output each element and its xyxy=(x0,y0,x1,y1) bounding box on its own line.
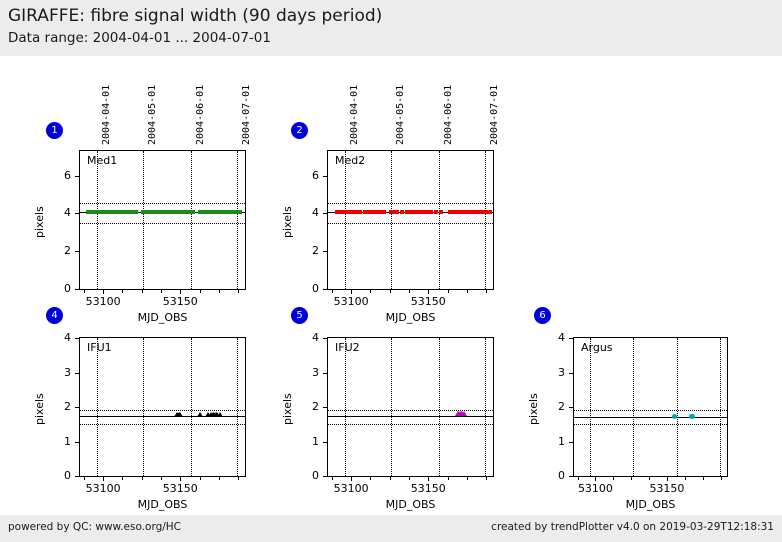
data-point xyxy=(197,412,203,417)
data-point xyxy=(217,412,223,417)
data-point xyxy=(672,414,677,419)
data-point xyxy=(358,210,362,214)
date-gridline-2 xyxy=(191,338,192,476)
y-tick-label: 3 xyxy=(543,366,565,379)
y-tick-label: 6 xyxy=(49,169,71,182)
x-axis-label: MJD_OBS xyxy=(327,311,494,324)
x-tick-label: 53100 xyxy=(571,482,619,495)
series-label: Argus xyxy=(581,341,613,354)
panel-badge-1[interactable]: 1 xyxy=(46,122,63,139)
y-tickmark xyxy=(323,407,327,408)
threshold-line-0 xyxy=(328,223,493,224)
y-tick-label: 2 xyxy=(49,244,71,257)
date-gridline-0 xyxy=(590,338,591,476)
x-minor-tickmark xyxy=(200,290,201,293)
date-label-1: 2004-05-01 xyxy=(395,85,406,145)
x-minor-tickmark xyxy=(486,290,487,293)
y-tick-label: 6 xyxy=(297,169,319,182)
data-point xyxy=(429,210,433,214)
date-label-1: 2004-05-01 xyxy=(147,85,158,145)
x-minor-tickmark xyxy=(84,477,85,480)
date-label-3: 2004-07-01 xyxy=(489,85,500,145)
x-axis-label: MJD_OBS xyxy=(79,311,246,324)
page-title: GIRAFFE: fibre signal width (90 days per… xyxy=(8,4,782,28)
date-label-2: 2004-06-01 xyxy=(443,85,454,145)
date-gridline-3 xyxy=(237,338,238,476)
y-tickmark xyxy=(323,476,327,477)
y-axis-label: pixels xyxy=(281,393,294,425)
x-minor-tickmark xyxy=(122,290,123,293)
y-axis-label: pixels xyxy=(33,393,46,425)
data-point xyxy=(434,210,438,214)
y-tickmark xyxy=(569,373,573,374)
date-gridline-0 xyxy=(97,151,98,289)
x-tick-label: 53100 xyxy=(327,295,375,308)
y-tick-label: 2 xyxy=(49,400,71,413)
x-minor-tickmark xyxy=(448,477,449,480)
threshold-line-1 xyxy=(328,203,493,204)
footer-created-by: created by trendPlotter v4.0 on 2019-03-… xyxy=(491,521,774,533)
y-tickmark xyxy=(75,251,79,252)
series-label: IFU1 xyxy=(87,341,112,354)
date-label-3: 2004-07-01 xyxy=(241,85,252,145)
y-tickmark xyxy=(323,338,327,339)
x-minor-tickmark xyxy=(467,290,468,293)
x-minor-tickmark xyxy=(667,477,668,480)
mean-line xyxy=(574,417,727,418)
date-label-2: 2004-06-01 xyxy=(195,85,206,145)
y-tick-label: 4 xyxy=(543,331,565,344)
x-minor-tickmark xyxy=(180,290,181,293)
panel-badge-6[interactable]: 6 xyxy=(534,307,551,324)
x-minor-tickmark xyxy=(613,477,614,480)
data-point xyxy=(382,210,386,214)
data-point xyxy=(395,210,399,214)
x-minor-tickmark xyxy=(595,477,596,480)
date-gridline-0 xyxy=(97,338,98,476)
y-tickmark xyxy=(569,338,573,339)
y-tick-label: 0 xyxy=(49,469,71,482)
data-point xyxy=(488,210,492,214)
y-tick-label: 0 xyxy=(297,282,319,295)
y-tick-label: 2 xyxy=(297,244,319,257)
data-point xyxy=(177,412,183,417)
x-tick-label: 53150 xyxy=(404,482,452,495)
y-tick-label: 1 xyxy=(543,435,565,448)
y-tickmark xyxy=(323,251,327,252)
y-tickmark xyxy=(569,476,573,477)
threshold-line-0 xyxy=(80,424,245,425)
y-tick-label: 1 xyxy=(297,435,319,448)
x-minor-tickmark xyxy=(486,477,487,480)
header-banner: GIRAFFE: fibre signal width (90 days per… xyxy=(0,0,782,56)
x-minor-tickmark xyxy=(685,477,686,480)
panel-badge-4[interactable]: 4 xyxy=(46,307,63,324)
x-minor-tickmark xyxy=(219,477,220,480)
y-tickmark xyxy=(75,213,79,214)
date-gridline-1 xyxy=(143,338,144,476)
x-minor-tickmark xyxy=(332,290,333,293)
y-axis-label: pixels xyxy=(527,393,540,425)
x-tick-label: 53150 xyxy=(156,482,204,495)
date-gridline-0 xyxy=(345,151,346,289)
panel-badge-5[interactable]: 5 xyxy=(291,307,308,324)
y-tickmark xyxy=(323,373,327,374)
threshold-line-0 xyxy=(80,223,245,224)
date-gridline-3 xyxy=(485,151,486,289)
plot-box-ifu2[interactable] xyxy=(327,337,494,477)
date-gridline-1 xyxy=(391,151,392,289)
x-minor-tickmark xyxy=(703,477,704,480)
x-minor-tickmark xyxy=(161,290,162,293)
y-tick-label: 4 xyxy=(297,206,319,219)
y-tickmark xyxy=(75,476,79,477)
data-point xyxy=(89,210,93,214)
x-tick-label: 53100 xyxy=(79,482,127,495)
footer-banner: powered by QC: www.eso.org/HC created by… xyxy=(0,515,782,542)
x-minor-tickmark xyxy=(409,477,410,480)
y-tickmark xyxy=(75,289,79,290)
x-minor-tickmark xyxy=(631,477,632,480)
y-axis-label: pixels xyxy=(33,206,46,238)
threshold-line-1 xyxy=(80,203,245,204)
plot-box-med2[interactable] xyxy=(327,150,494,290)
x-minor-tickmark xyxy=(448,290,449,293)
y-tick-label: 0 xyxy=(543,469,565,482)
x-minor-tickmark xyxy=(142,477,143,480)
y-tickmark xyxy=(75,442,79,443)
x-minor-tickmark xyxy=(428,290,429,293)
x-tick-label: 53150 xyxy=(404,295,452,308)
date-gridline-2 xyxy=(191,151,192,289)
x-minor-tickmark xyxy=(351,477,352,480)
x-minor-tickmark xyxy=(122,477,123,480)
x-minor-tickmark xyxy=(161,477,162,480)
x-minor-tickmark xyxy=(649,477,650,480)
date-label-0: 2004-04-01 xyxy=(101,85,112,145)
y-tick-label: 4 xyxy=(297,331,319,344)
date-gridline-0 xyxy=(345,338,346,476)
plot-box-med1[interactable] xyxy=(79,150,246,290)
y-tick-label: 1 xyxy=(49,435,71,448)
date-gridline-2 xyxy=(439,338,440,476)
y-tickmark xyxy=(75,373,79,374)
y-tick-label: 4 xyxy=(49,331,71,344)
x-minor-tickmark xyxy=(351,290,352,293)
x-minor-tickmark xyxy=(467,477,468,480)
x-tick-label: 53100 xyxy=(79,295,127,308)
data-point xyxy=(348,210,352,214)
series-label: Med1 xyxy=(87,154,117,167)
y-tickmark xyxy=(323,442,327,443)
data-point xyxy=(238,210,242,214)
y-tickmark xyxy=(569,407,573,408)
x-axis-label: MJD_OBS xyxy=(327,498,494,511)
x-tick-label: 53150 xyxy=(156,295,204,308)
y-tickmark xyxy=(75,176,79,177)
y-tickmark xyxy=(75,338,79,339)
y-tick-label: 0 xyxy=(297,469,319,482)
panel-badge-2[interactable]: 2 xyxy=(291,122,308,139)
y-tickmark xyxy=(75,407,79,408)
date-gridline-3 xyxy=(237,151,238,289)
date-gridline-1 xyxy=(633,338,634,476)
data-point xyxy=(134,210,138,214)
plot-box-ifu1[interactable] xyxy=(79,337,246,477)
x-minor-tickmark xyxy=(142,290,143,293)
date-gridline-3 xyxy=(485,338,486,476)
data-point xyxy=(191,210,195,214)
x-minor-tickmark xyxy=(390,290,391,293)
date-gridline-1 xyxy=(391,338,392,476)
data-point xyxy=(461,411,467,416)
y-tick-label: 0 xyxy=(49,282,71,295)
plot-box-argus[interactable] xyxy=(573,337,728,477)
y-tick-label: 3 xyxy=(297,366,319,379)
date-label-0: 2004-04-01 xyxy=(349,85,360,145)
date-gridline-2 xyxy=(677,338,678,476)
series-label: Med2 xyxy=(335,154,365,167)
threshold-line-0 xyxy=(328,424,493,425)
y-tickmark xyxy=(569,442,573,443)
x-axis-label: MJD_OBS xyxy=(573,498,728,511)
x-minor-tickmark xyxy=(390,477,391,480)
x-minor-tickmark xyxy=(428,477,429,480)
data-point xyxy=(439,210,443,214)
x-tick-label: 53150 xyxy=(643,482,691,495)
x-minor-tickmark xyxy=(103,477,104,480)
y-tickmark xyxy=(323,213,327,214)
date-gridline-1 xyxy=(143,151,144,289)
data-point xyxy=(400,210,404,214)
threshold-line-1 xyxy=(80,410,245,411)
x-minor-tickmark xyxy=(332,477,333,480)
y-axis-label: pixels xyxy=(281,206,294,238)
y-tick-label: 3 xyxy=(49,366,71,379)
x-minor-tickmark xyxy=(103,290,104,293)
x-minor-tickmark xyxy=(180,477,181,480)
x-minor-tickmark xyxy=(238,290,239,293)
x-minor-tickmark xyxy=(370,477,371,480)
data-range-subtitle: Data range: 2004-04-01 ... 2004-07-01 xyxy=(8,28,782,48)
x-minor-tickmark xyxy=(238,477,239,480)
data-point xyxy=(690,414,695,419)
x-minor-tickmark xyxy=(721,477,722,480)
footer-powered-by: powered by QC: www.eso.org/HC xyxy=(8,521,181,533)
threshold-line-1 xyxy=(328,410,493,411)
threshold-line-0 xyxy=(574,424,727,425)
date-gridline-3 xyxy=(720,338,721,476)
x-minor-tickmark xyxy=(409,290,410,293)
x-tick-label: 53100 xyxy=(327,482,375,495)
y-tick-label: 2 xyxy=(297,400,319,413)
x-minor-tickmark xyxy=(219,290,220,293)
series-label: IFU2 xyxy=(335,341,360,354)
date-gridline-2 xyxy=(439,151,440,289)
x-minor-tickmark xyxy=(84,290,85,293)
threshold-line-1 xyxy=(574,410,727,411)
y-tickmark xyxy=(323,289,327,290)
y-tick-label: 4 xyxy=(49,206,71,219)
x-minor-tickmark xyxy=(370,290,371,293)
x-minor-tickmark xyxy=(200,477,201,480)
x-minor-tickmark xyxy=(578,477,579,480)
x-axis-label: MJD_OBS xyxy=(79,498,246,511)
y-tickmark xyxy=(323,176,327,177)
y-tick-label: 2 xyxy=(543,400,565,413)
mean-line xyxy=(328,416,493,417)
